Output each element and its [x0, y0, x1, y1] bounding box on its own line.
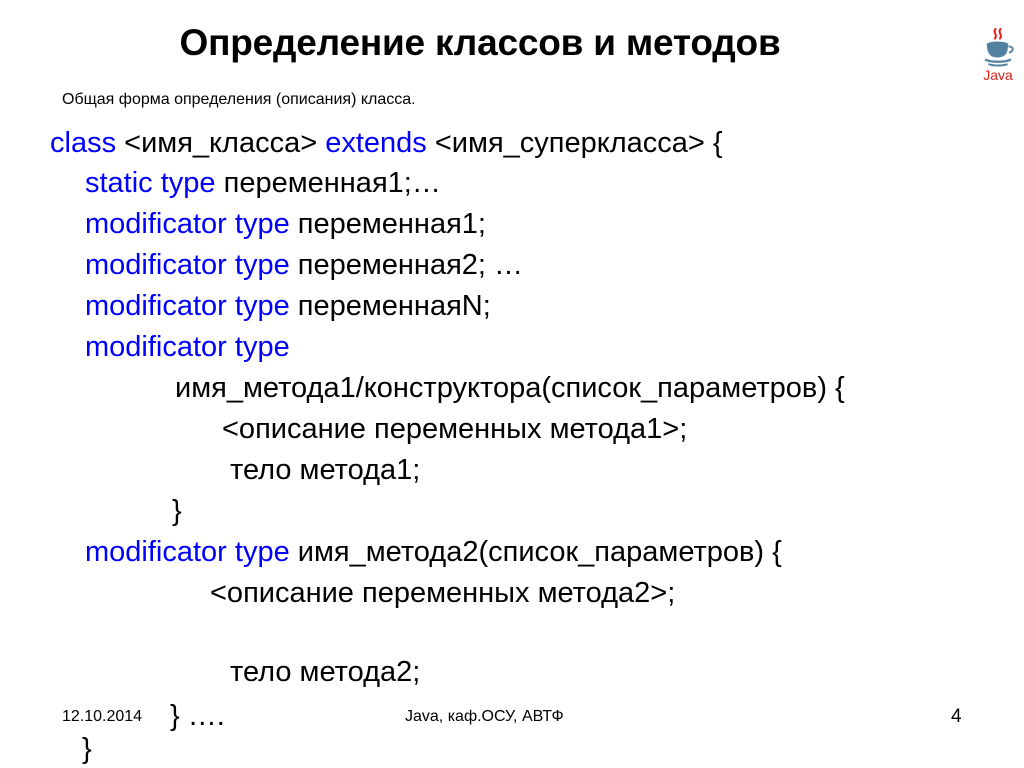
code-keyword: static type — [85, 167, 224, 199]
footer-center-text: Java, каф.ОСУ, АВТФ — [405, 708, 564, 726]
code-keyword: modificator type — [85, 536, 298, 568]
page-title: Определение классов и методов — [0, 22, 960, 64]
code-text: <имя_класса> — [124, 127, 325, 159]
line-mod-var2: modificator type переменная2; … — [85, 248, 523, 282]
code-text: тело метода1; — [230, 454, 420, 486]
line-method1-close: } — [172, 494, 182, 528]
code-text: тело метода2; — [230, 656, 420, 688]
code-text: } …. — [170, 700, 225, 732]
code-keyword: modificator type — [85, 208, 298, 240]
code-text: <описание переменных метода2>; — [210, 577, 675, 609]
subtitle-text: Общая форма определения (описания) класс… — [62, 91, 416, 109]
code-text: } — [172, 495, 182, 527]
line-static-var1: static type переменная1;… — [85, 166, 441, 200]
code-keyword: modificator type — [85, 331, 290, 363]
code-text: имя_метода1/конструктора(список_параметр… — [175, 372, 845, 404]
line-method1-sig: имя_метода1/конструктора(список_параметр… — [175, 371, 845, 405]
code-text: переменная1;… — [224, 167, 441, 199]
code-keyword: extends — [325, 127, 435, 159]
java-cup — [985, 42, 1013, 66]
java-logo: Java — [978, 26, 1018, 84]
code-text: } — [82, 733, 92, 765]
code-text: имя_метода2(список_параметров) { — [298, 536, 782, 568]
footer-date: 12.10.2014 — [62, 708, 142, 726]
code-text: переменнаяN; — [298, 290, 491, 322]
line-method1-body: тело метода1; — [230, 453, 420, 487]
code-keyword: modificator type — [85, 249, 298, 281]
code-keyword: modificator type — [85, 290, 298, 322]
line-method2-vars: <описание переменных метода2>; — [210, 576, 675, 610]
line-class: class <имя_класса> extends <имя_суперкла… — [50, 126, 723, 160]
code-text: <имя_суперкласса> { — [435, 127, 723, 159]
line-mod-var1: modificator type переменная1; — [85, 207, 486, 241]
java-wordmark: Java — [983, 67, 1013, 83]
code-text: переменная2; … — [298, 249, 523, 281]
code-text: переменная1; — [298, 208, 486, 240]
line-mod-type: modificator type — [85, 330, 290, 364]
line-method2-close: } …. — [170, 699, 225, 733]
line-class-close: } — [82, 732, 92, 766]
line-method2-body: тело метода2; — [230, 655, 420, 689]
line-method2-sig: modificator type имя_метода2(список_пара… — [85, 535, 782, 569]
code-keyword: class — [50, 127, 124, 159]
line-mod-varN: modificator type переменнаяN; — [85, 289, 491, 323]
code-text: <описание переменных метода1>; — [222, 413, 687, 445]
line-method1-vars: <описание переменных метода1>; — [222, 412, 687, 446]
java-steam — [995, 29, 1001, 39]
slide-number: 4 — [951, 706, 962, 728]
